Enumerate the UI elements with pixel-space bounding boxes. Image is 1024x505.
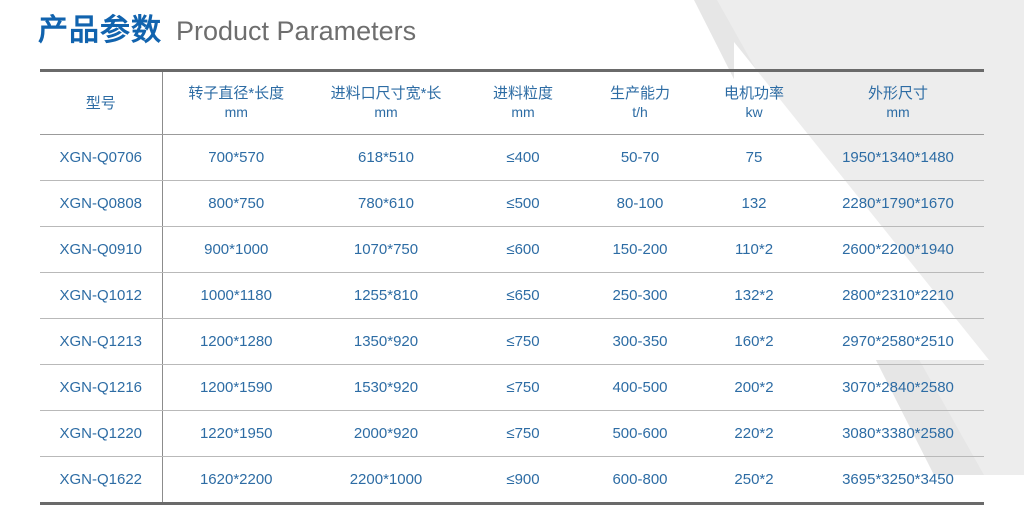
table-head: 型号 转子直径*长度 mm 进料口尺寸宽*长 mm 进料粒度 mm 生产能力 t…: [40, 71, 984, 135]
column-header-power-label: 电机功率: [724, 85, 784, 102]
page-header: 产品参数 Product Parameters: [38, 16, 416, 46]
cell-model: XGN-Q0910: [40, 227, 162, 273]
table-row: XGN-Q0706700*570618*510≤40050-70751950*1…: [40, 135, 984, 181]
cell-feed-size: ≤600: [462, 227, 584, 273]
table-row: XGN-Q16221620*22002200*1000≤900600-80025…: [40, 457, 984, 504]
cell-feed-opening: 1350*920: [310, 319, 462, 365]
cell-feed-size: ≤750: [462, 411, 584, 457]
cell-feed-size: ≤900: [462, 457, 584, 504]
table-header-row: 型号 转子直径*长度 mm 进料口尺寸宽*长 mm 进料粒度 mm 生产能力 t…: [40, 71, 984, 135]
cell-capacity: 300-350: [584, 319, 696, 365]
cell-feed-size: ≤500: [462, 181, 584, 227]
cell-model: XGN-Q1220: [40, 411, 162, 457]
cell-power: 220*2: [696, 411, 812, 457]
cell-model: XGN-Q0808: [40, 181, 162, 227]
cell-feed-opening: 618*510: [310, 135, 462, 181]
cell-rotor: 1200*1590: [162, 365, 310, 411]
table-row: XGN-Q12201220*19502000*920≤750500-600220…: [40, 411, 984, 457]
table-body: XGN-Q0706700*570618*510≤40050-70751950*1…: [40, 135, 984, 504]
specification-table-container: 型号 转子直径*长度 mm 进料口尺寸宽*长 mm 进料粒度 mm 生产能力 t…: [40, 69, 984, 505]
column-header-feed-opening-label: 进料口尺寸宽*长: [331, 85, 442, 102]
table-row: XGN-Q12161200*15901530*920≤750400-500200…: [40, 365, 984, 411]
column-header-capacity-label: 生产能力: [610, 85, 670, 102]
cell-feed-opening: 1070*750: [310, 227, 462, 273]
cell-feed-opening: 2200*1000: [310, 457, 462, 504]
cell-dimensions: 3070*2840*2580: [812, 365, 984, 411]
cell-rotor: 900*1000: [162, 227, 310, 273]
cell-model: XGN-Q0706: [40, 135, 162, 181]
cell-rotor: 800*750: [162, 181, 310, 227]
page-title-chinese: 产品参数: [38, 16, 162, 46]
cell-rotor: 1000*1180: [162, 273, 310, 319]
column-header-rotor-label: 转子直径*长度: [188, 85, 284, 102]
cell-capacity: 250-300: [584, 273, 696, 319]
column-header-power-unit: kw: [696, 103, 812, 122]
cell-dimensions: 2600*2200*1940: [812, 227, 984, 273]
cell-feed-size: ≤400: [462, 135, 584, 181]
column-header-feed-size: 进料粒度 mm: [462, 71, 584, 135]
cell-feed-opening: 1530*920: [310, 365, 462, 411]
cell-capacity: 150-200: [584, 227, 696, 273]
cell-dimensions: 3080*3380*2580: [812, 411, 984, 457]
column-header-feed-size-label: 进料粒度: [493, 85, 553, 102]
cell-power: 132*2: [696, 273, 812, 319]
cell-rotor: 1220*1950: [162, 411, 310, 457]
column-header-model-label: 型号: [86, 95, 116, 112]
cell-rotor: 1200*1280: [162, 319, 310, 365]
cell-dimensions: 2280*1790*1670: [812, 181, 984, 227]
cell-model: XGN-Q1213: [40, 319, 162, 365]
column-header-dimensions: 外形尺寸 mm: [812, 71, 984, 135]
column-header-dimensions-label: 外形尺寸: [868, 85, 928, 102]
table-row: XGN-Q10121000*11801255*810≤650250-300132…: [40, 273, 984, 319]
column-header-rotor-unit: mm: [163, 103, 311, 122]
table-row: XGN-Q0910900*10001070*750≤600150-200110*…: [40, 227, 984, 273]
cell-feed-size: ≤650: [462, 273, 584, 319]
cell-dimensions: 3695*3250*3450: [812, 457, 984, 504]
cell-capacity: 50-70: [584, 135, 696, 181]
column-header-dimensions-unit: mm: [812, 103, 984, 122]
cell-feed-size: ≤750: [462, 319, 584, 365]
cell-power: 250*2: [696, 457, 812, 504]
table-row: XGN-Q0808800*750780*610≤50080-1001322280…: [40, 181, 984, 227]
cell-rotor: 1620*2200: [162, 457, 310, 504]
cell-capacity: 500-600: [584, 411, 696, 457]
page-title-english: Product Parameters: [176, 18, 416, 45]
cell-power: 75: [696, 135, 812, 181]
cell-rotor: 700*570: [162, 135, 310, 181]
table-row: XGN-Q12131200*12801350*920≤750300-350160…: [40, 319, 984, 365]
cell-feed-opening: 1255*810: [310, 273, 462, 319]
cell-power: 132: [696, 181, 812, 227]
column-header-model: 型号: [40, 71, 162, 135]
cell-feed-opening: 2000*920: [310, 411, 462, 457]
cell-dimensions: 1950*1340*1480: [812, 135, 984, 181]
column-header-feed-opening: 进料口尺寸宽*长 mm: [310, 71, 462, 135]
cell-power: 160*2: [696, 319, 812, 365]
cell-capacity: 80-100: [584, 181, 696, 227]
column-header-feed-size-unit: mm: [462, 103, 584, 122]
column-header-feed-opening-unit: mm: [310, 103, 462, 122]
specification-table: 型号 转子直径*长度 mm 进料口尺寸宽*长 mm 进料粒度 mm 生产能力 t…: [40, 69, 984, 505]
cell-model: XGN-Q1622: [40, 457, 162, 504]
cell-capacity: 400-500: [584, 365, 696, 411]
cell-model: XGN-Q1012: [40, 273, 162, 319]
cell-dimensions: 2800*2310*2210: [812, 273, 984, 319]
cell-feed-size: ≤750: [462, 365, 584, 411]
cell-feed-opening: 780*610: [310, 181, 462, 227]
cell-dimensions: 2970*2580*2510: [812, 319, 984, 365]
column-header-capacity: 生产能力 t/h: [584, 71, 696, 135]
column-header-power: 电机功率 kw: [696, 71, 812, 135]
column-header-rotor: 转子直径*长度 mm: [162, 71, 310, 135]
cell-power: 200*2: [696, 365, 812, 411]
column-header-capacity-unit: t/h: [584, 103, 696, 122]
cell-power: 110*2: [696, 227, 812, 273]
cell-capacity: 600-800: [584, 457, 696, 504]
cell-model: XGN-Q1216: [40, 365, 162, 411]
